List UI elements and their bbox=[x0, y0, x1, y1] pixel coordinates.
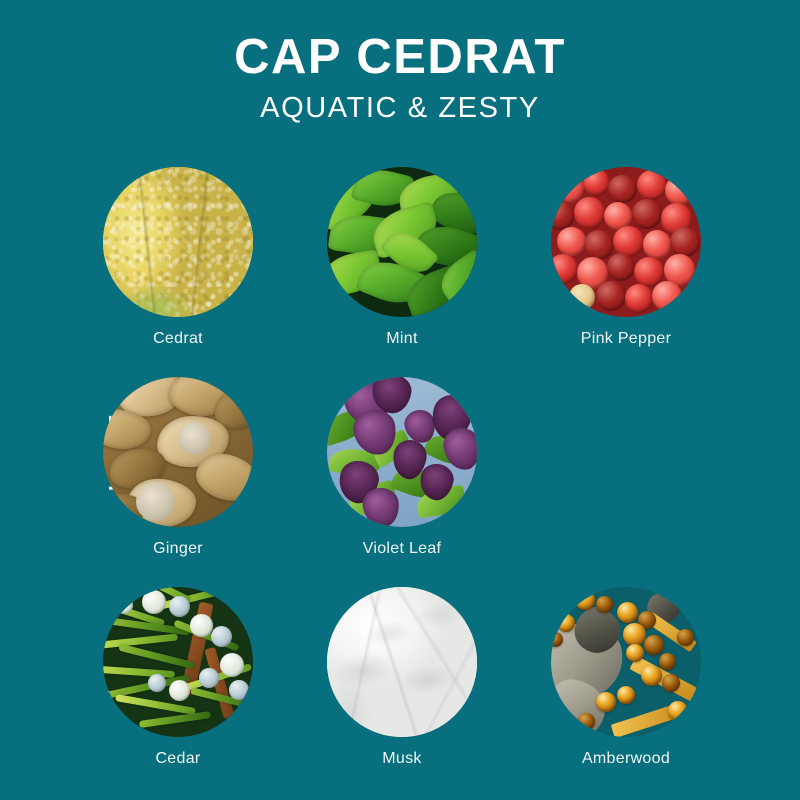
row-items-heart: Ginger bbox=[103, 377, 800, 587]
note-label: Cedrat bbox=[103, 330, 253, 348]
note-label: Amberwood bbox=[551, 750, 701, 768]
page-title: CAP CEDRAT bbox=[0, 30, 800, 85]
violet-leaf-photo bbox=[327, 377, 477, 527]
note-label: Musk bbox=[327, 750, 477, 768]
cedar-photo bbox=[103, 587, 253, 737]
note-label: Mint bbox=[327, 330, 477, 348]
ginger-photo bbox=[103, 377, 253, 527]
page-subtitle: AQUATIC & ZESTY bbox=[0, 93, 800, 125]
note-amberwood[interactable]: Amberwood bbox=[551, 587, 701, 768]
musk-photo bbox=[327, 587, 477, 737]
note-thumbnail[interactable] bbox=[327, 587, 477, 737]
amberwood-photo bbox=[551, 587, 701, 737]
note-thumbnail[interactable] bbox=[551, 167, 701, 317]
note-thumbnail[interactable] bbox=[103, 587, 253, 737]
pyramid-row-base: BASE bbox=[0, 587, 800, 797]
note-label: Violet Leaf bbox=[327, 540, 477, 558]
note-violet-leaf[interactable]: Violet Leaf bbox=[327, 377, 477, 558]
note-mint[interactable]: Mint bbox=[327, 167, 477, 348]
pyramid-row-heart: HEART bbox=[0, 377, 800, 587]
note-thumbnail[interactable] bbox=[327, 377, 477, 527]
note-cedrat[interactable]: Cedrat bbox=[103, 167, 253, 348]
note-pink-pepper[interactable]: Pink Pepper bbox=[551, 167, 701, 348]
fragrance-pyramid-card: CAP CEDRAT AQUATIC & ZESTY TOP Cedrat bbox=[0, 0, 800, 800]
pink-pepper-photo bbox=[551, 167, 701, 317]
note-thumbnail[interactable] bbox=[103, 167, 253, 317]
cedrat-photo bbox=[103, 167, 253, 317]
note-label: Ginger bbox=[103, 540, 253, 558]
note-thumbnail[interactable] bbox=[551, 587, 701, 737]
pyramid-row-top: TOP Cedrat bbox=[0, 167, 800, 377]
row-items-base: Cedar Musk bbox=[103, 587, 800, 797]
note-label: Pink Pepper bbox=[551, 330, 701, 348]
note-musk[interactable]: Musk bbox=[327, 587, 477, 768]
mint-photo bbox=[327, 167, 477, 317]
note-ginger[interactable]: Ginger bbox=[103, 377, 253, 558]
note-label: Cedar bbox=[103, 750, 253, 768]
note-thumbnail[interactable] bbox=[103, 377, 253, 527]
note-thumbnail[interactable] bbox=[327, 167, 477, 317]
row-items-top: Cedrat bbox=[103, 167, 800, 377]
pyramid-rows: TOP Cedrat bbox=[0, 167, 800, 797]
note-cedar[interactable]: Cedar bbox=[103, 587, 253, 768]
header: CAP CEDRAT AQUATIC & ZESTY bbox=[0, 30, 800, 125]
